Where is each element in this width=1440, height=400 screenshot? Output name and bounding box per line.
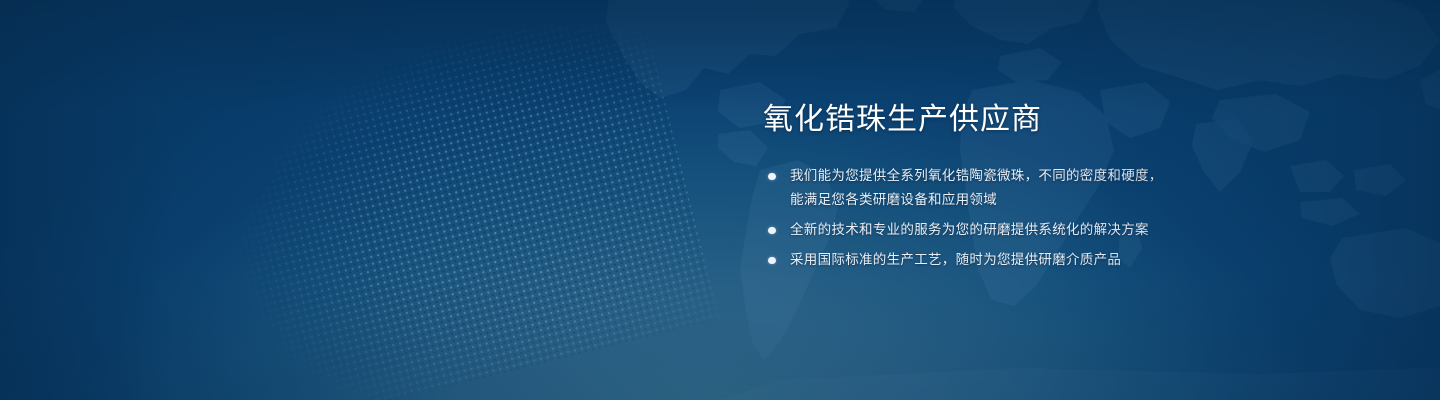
edge-vignette bbox=[0, 0, 1440, 400]
hero-banner: 氧化锆珠生产供应商 我们能为您提供全系列氧化锆陶瓷微珠，不同的密度和硬度， 能满… bbox=[0, 0, 1440, 400]
